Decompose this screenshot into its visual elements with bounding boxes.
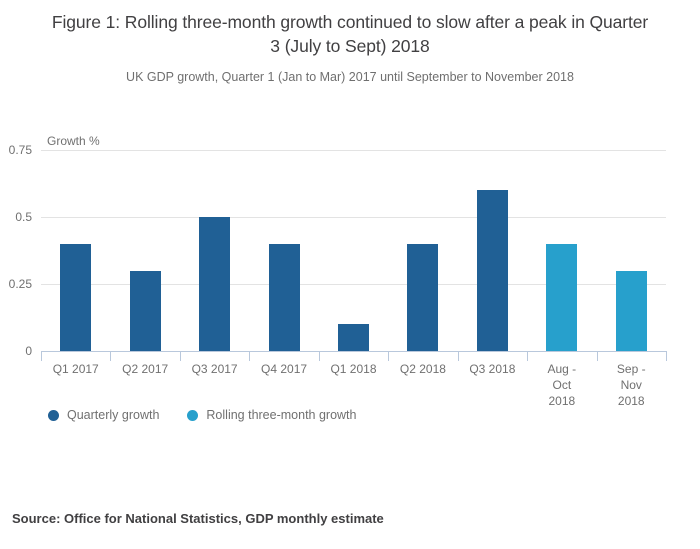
x-axis-tick-label-line: Sep - xyxy=(597,361,666,377)
x-axis-tick-label-line: Nov xyxy=(597,377,666,393)
x-axis-tick-label-line: 2018 xyxy=(527,393,596,409)
x-axis-tick-label: Q3 2017 xyxy=(180,361,249,377)
x-axis-tick-separator xyxy=(249,351,250,361)
x-axis-tick-label: Aug -Oct2018 xyxy=(527,361,596,409)
x-axis-tick-label-line: Oct xyxy=(527,377,596,393)
x-axis-tick-label-line: Q1 2017 xyxy=(41,361,110,377)
x-axis-tick-separator xyxy=(597,351,598,361)
bar[interactable] xyxy=(477,190,508,351)
x-axis-tick-separator xyxy=(666,351,667,361)
x-axis-tick-separator xyxy=(527,351,528,361)
legend-circle-icon xyxy=(187,410,198,421)
x-axis-tick-separator xyxy=(110,351,111,361)
x-axis-tick-label-line: Q3 2018 xyxy=(458,361,527,377)
source-note: Source: Office for National Statistics, … xyxy=(12,511,384,526)
y-axis-tick-label: 0.5 xyxy=(15,210,32,224)
legend-circle-icon xyxy=(48,410,59,421)
x-axis-tick-label: Q2 2018 xyxy=(388,361,457,377)
x-axis-tick-label-line: Q4 2017 xyxy=(249,361,318,377)
legend-item[interactable]: Rolling three-month growth xyxy=(187,408,356,422)
x-axis-tick-label: Q1 2018 xyxy=(319,361,388,377)
gridline xyxy=(41,284,666,285)
x-axis-tick-label: Q3 2018 xyxy=(458,361,527,377)
bar[interactable] xyxy=(338,324,369,351)
legend-item[interactable]: Quarterly growth xyxy=(48,408,159,422)
x-axis-tick-label-line: Aug - xyxy=(527,361,596,377)
bar[interactable] xyxy=(269,244,300,351)
legend-label: Quarterly growth xyxy=(67,408,159,422)
chart-legend: Quarterly growthRolling three-month grow… xyxy=(48,408,356,422)
x-axis-tick-labels: Q1 2017Q2 2017Q3 2017Q4 2017Q1 2018Q2 20… xyxy=(41,361,666,419)
y-axis-tick-label: 0.75 xyxy=(9,143,32,157)
chart-header: Figure 1: Rolling three-month growth con… xyxy=(0,0,700,86)
y-axis-tick-label: 0.25 xyxy=(9,277,32,291)
x-axis-tick-label: Q1 2017 xyxy=(41,361,110,377)
x-axis-baseline xyxy=(41,351,666,352)
x-axis-tick-label-line: Q1 2018 xyxy=(319,361,388,377)
bar[interactable] xyxy=(60,244,91,351)
x-axis-tick-separator xyxy=(388,351,389,361)
x-axis-tick-label-line: Q3 2017 xyxy=(180,361,249,377)
x-axis-tick-label: Q4 2017 xyxy=(249,361,318,377)
chart-subtitle: UK GDP growth, Quarter 1 (Jan to Mar) 20… xyxy=(30,68,670,86)
gridline xyxy=(41,150,666,151)
x-axis-tick-separator xyxy=(458,351,459,361)
bar[interactable] xyxy=(546,244,577,351)
y-axis-title: Growth % xyxy=(47,134,100,148)
legend-label: Rolling three-month growth xyxy=(206,408,356,422)
x-axis-tick-label-line: Q2 2017 xyxy=(110,361,179,377)
bar[interactable] xyxy=(130,271,161,351)
bars-group xyxy=(41,150,666,351)
x-axis-tick-label: Sep -Nov2018 xyxy=(597,361,666,409)
x-axis-tick-separator xyxy=(41,351,42,361)
x-axis-tick-label: Q2 2017 xyxy=(110,361,179,377)
x-axis-tick-separator xyxy=(319,351,320,361)
x-axis-tick-label-line: Q2 2018 xyxy=(388,361,457,377)
bar[interactable] xyxy=(199,217,230,351)
bar[interactable] xyxy=(407,244,438,351)
gridline xyxy=(41,217,666,218)
x-axis-tick-label-line: 2018 xyxy=(597,393,666,409)
y-axis-tick-label: 0 xyxy=(25,344,32,358)
bar[interactable] xyxy=(616,271,647,351)
page-title: Figure 1: Rolling three-month growth con… xyxy=(50,10,650,58)
x-axis-tick-separator xyxy=(180,351,181,361)
